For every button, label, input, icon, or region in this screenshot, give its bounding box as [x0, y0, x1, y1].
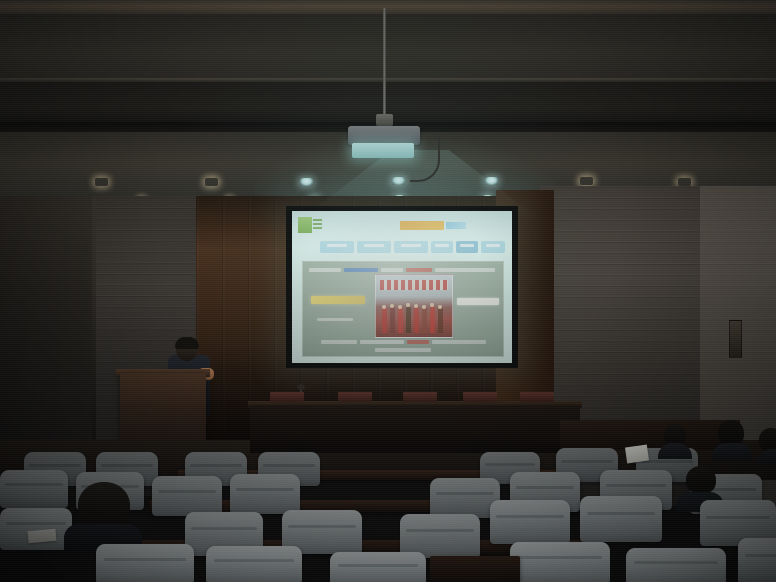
slide-logo-icon	[298, 217, 312, 233]
projection-screen	[292, 211, 512, 363]
projector-lens	[352, 143, 414, 158]
slide-title-subtitle	[446, 222, 466, 229]
seat	[330, 552, 426, 582]
downlight-icon	[205, 178, 218, 186]
seat	[738, 538, 776, 582]
audience-person	[757, 428, 776, 464]
head-table-item	[403, 392, 437, 402]
seat	[96, 544, 194, 582]
seat	[206, 546, 302, 582]
downlight-icon	[678, 178, 691, 186]
slide-nav-chip	[357, 241, 391, 253]
seat	[0, 470, 68, 508]
slide-nav-chip	[320, 241, 354, 253]
seat	[490, 500, 570, 544]
slide-left-subcaption	[317, 318, 353, 321]
seat	[230, 474, 300, 514]
projector-mount-rod	[383, 8, 386, 118]
audience-handout	[28, 529, 57, 543]
wall-fixture-icon	[729, 320, 742, 358]
head-table-item	[520, 392, 554, 402]
head-table-item	[463, 392, 497, 402]
slide-title	[400, 221, 444, 230]
slide-nav-chip	[394, 241, 428, 253]
lecture-hall-photo	[0, 0, 776, 582]
downlight-icon	[95, 178, 108, 186]
slide-nav-chip	[431, 241, 453, 253]
desk-row	[430, 556, 520, 582]
head-table	[250, 405, 580, 453]
audience-person	[658, 424, 692, 458]
downlight-icon	[580, 177, 593, 185]
seat	[152, 476, 222, 516]
slide-logo-text-icon	[313, 219, 322, 230]
slide-left-caption	[311, 296, 365, 304]
audience-handout	[625, 445, 649, 464]
slide-right-caption	[457, 298, 499, 305]
slide-photo-banner	[380, 280, 448, 290]
slide-content-panel	[302, 261, 504, 357]
ceiling-upper-band	[0, 14, 776, 84]
seat	[580, 496, 662, 542]
seat	[510, 542, 610, 582]
audience-person	[712, 420, 752, 460]
projector-mount-bracket	[376, 114, 393, 126]
head-table-item	[338, 392, 372, 402]
slide-nav-chip	[481, 241, 505, 253]
presenter-hair	[175, 337, 199, 349]
table-microphone-icon	[297, 384, 305, 390]
downlight-icon	[300, 178, 313, 186]
audience-person-foreground	[64, 482, 142, 546]
slide-photo	[375, 274, 453, 338]
head-table-item	[270, 392, 304, 402]
slide-nav-chip-active	[456, 241, 478, 253]
seat	[0, 508, 72, 550]
seat	[626, 548, 726, 582]
